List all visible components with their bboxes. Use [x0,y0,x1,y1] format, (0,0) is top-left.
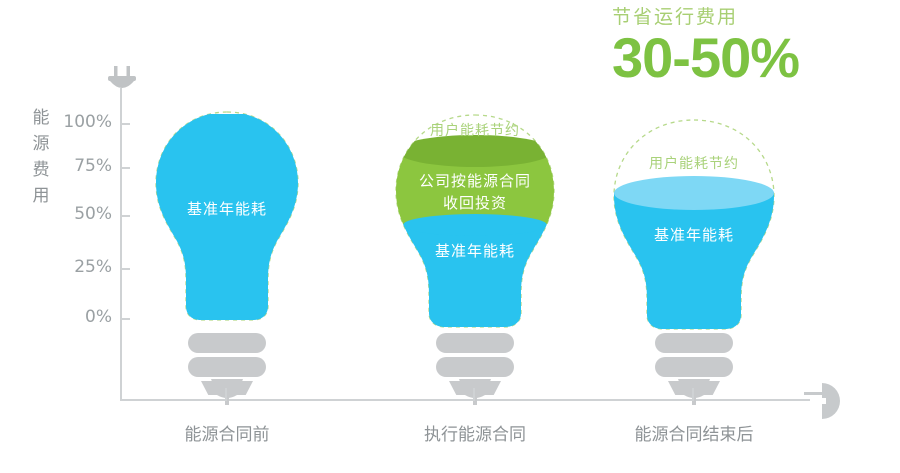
y-tick-mark-25 [120,268,130,270]
y-tick-mark-50 [120,215,130,217]
x-axis-label-2: 执行能源合同 [375,420,575,445]
y-tick-label-100: 100% [42,112,112,132]
bulb2-base-ring-1 [436,333,514,353]
y-tick-mark-0 [120,318,130,320]
x-axis-label-1: 能源合同前 [127,420,327,445]
y-tick-mark-75 [120,167,130,169]
x-tick-stem-1 [225,388,227,401]
y-tick-label-50: 50% [42,204,112,224]
plug-icon [106,66,138,94]
y-axis-line [120,88,122,401]
y-tick-mark-100 [120,123,130,125]
y-tick-label-0: 0% [42,307,112,327]
headline-value: 30-50% [612,28,892,88]
infographic-canvas: 节省运行费用 30-50% 能源费用 100% 75% 50% 25% 0% [0,0,900,473]
y-tick-label-25: 25% [42,257,112,277]
bulb1-base-ring-1 [188,333,266,353]
y-tick-label-75: 75% [42,156,112,176]
bulb3-base-ring-1 [655,333,733,353]
bulb-during-contract[interactable]: 用户能耗节约 公司按能源合同 收回投资 基准年能耗 [390,113,560,331]
x-axis-label-3: 能源合同结束后 [594,420,794,445]
x-tick-stem-2 [473,388,475,401]
bulb3-base-ring-2 [655,357,733,377]
x-tick-stem-3 [692,388,694,401]
socket-icon [802,381,846,421]
bulb1-base-ring-2 [188,357,266,377]
bulb2-base-ring-2 [436,357,514,377]
bulb-before-contract[interactable]: 基准年能耗 [152,110,302,325]
headline-block: 节省运行费用 30-50% [612,4,892,88]
bulb-after-contract[interactable]: 用户能耗节约 基准年能耗 [608,118,780,333]
